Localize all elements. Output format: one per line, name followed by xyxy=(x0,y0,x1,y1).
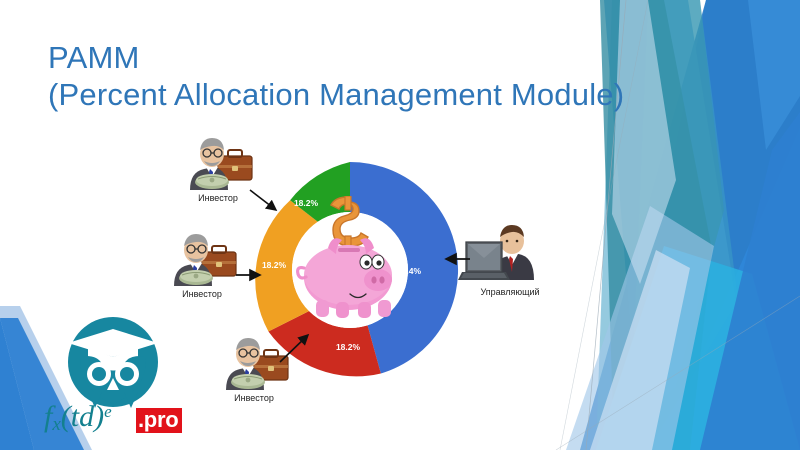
logo-td: (td) xyxy=(61,400,104,433)
manager-caption: Управляющий xyxy=(452,287,568,297)
page-title: PAMM (Percent Allocation Management Modu… xyxy=(48,40,624,113)
owl-graduate-icon xyxy=(58,316,168,408)
slide-canvas: PAMM (Percent Allocation Management Modu… xyxy=(0,0,800,450)
piggy-bank-hub xyxy=(292,212,408,328)
logo-e: e xyxy=(104,402,112,421)
piggy-bank-with-dollar-icon xyxy=(292,196,408,328)
logo-fx-text: fx(td)e xyxy=(44,400,112,436)
laptop-icon xyxy=(458,242,510,280)
slice-label-investor-2: 18.2% xyxy=(262,260,287,270)
investor-2[interactable]: Инвестор xyxy=(154,232,250,299)
site-logo[interactable]: fx(td)e .pro xyxy=(40,316,192,438)
slice-label-investor-3: 18.2% xyxy=(336,342,361,352)
investor-3-caption: Инвестор xyxy=(206,393,302,403)
investor-3[interactable]: Инвестор xyxy=(206,336,302,403)
logo-pro-badge: .pro xyxy=(136,408,182,433)
businessman-with-laptop-icon xyxy=(454,224,566,286)
investor-1[interactable]: Инвестор xyxy=(170,136,266,203)
investor-with-briefcase-icon xyxy=(208,336,300,392)
investor-2-caption: Инвестор xyxy=(154,289,250,299)
manager[interactable]: Управляющий xyxy=(452,224,568,297)
money-icon xyxy=(195,174,229,189)
investor-with-briefcase-icon xyxy=(172,136,264,192)
money-icon xyxy=(179,270,213,285)
title-line-1: PAMM xyxy=(48,40,624,77)
logo-wordmark: fx(td)e .pro xyxy=(40,400,192,438)
title-line-2: (Percent Allocation Management Module) xyxy=(48,77,624,114)
money-icon xyxy=(231,374,265,389)
investor-1-caption: Инвестор xyxy=(170,193,266,203)
investor-with-briefcase-icon xyxy=(156,232,248,288)
logo-x: x xyxy=(52,414,60,435)
